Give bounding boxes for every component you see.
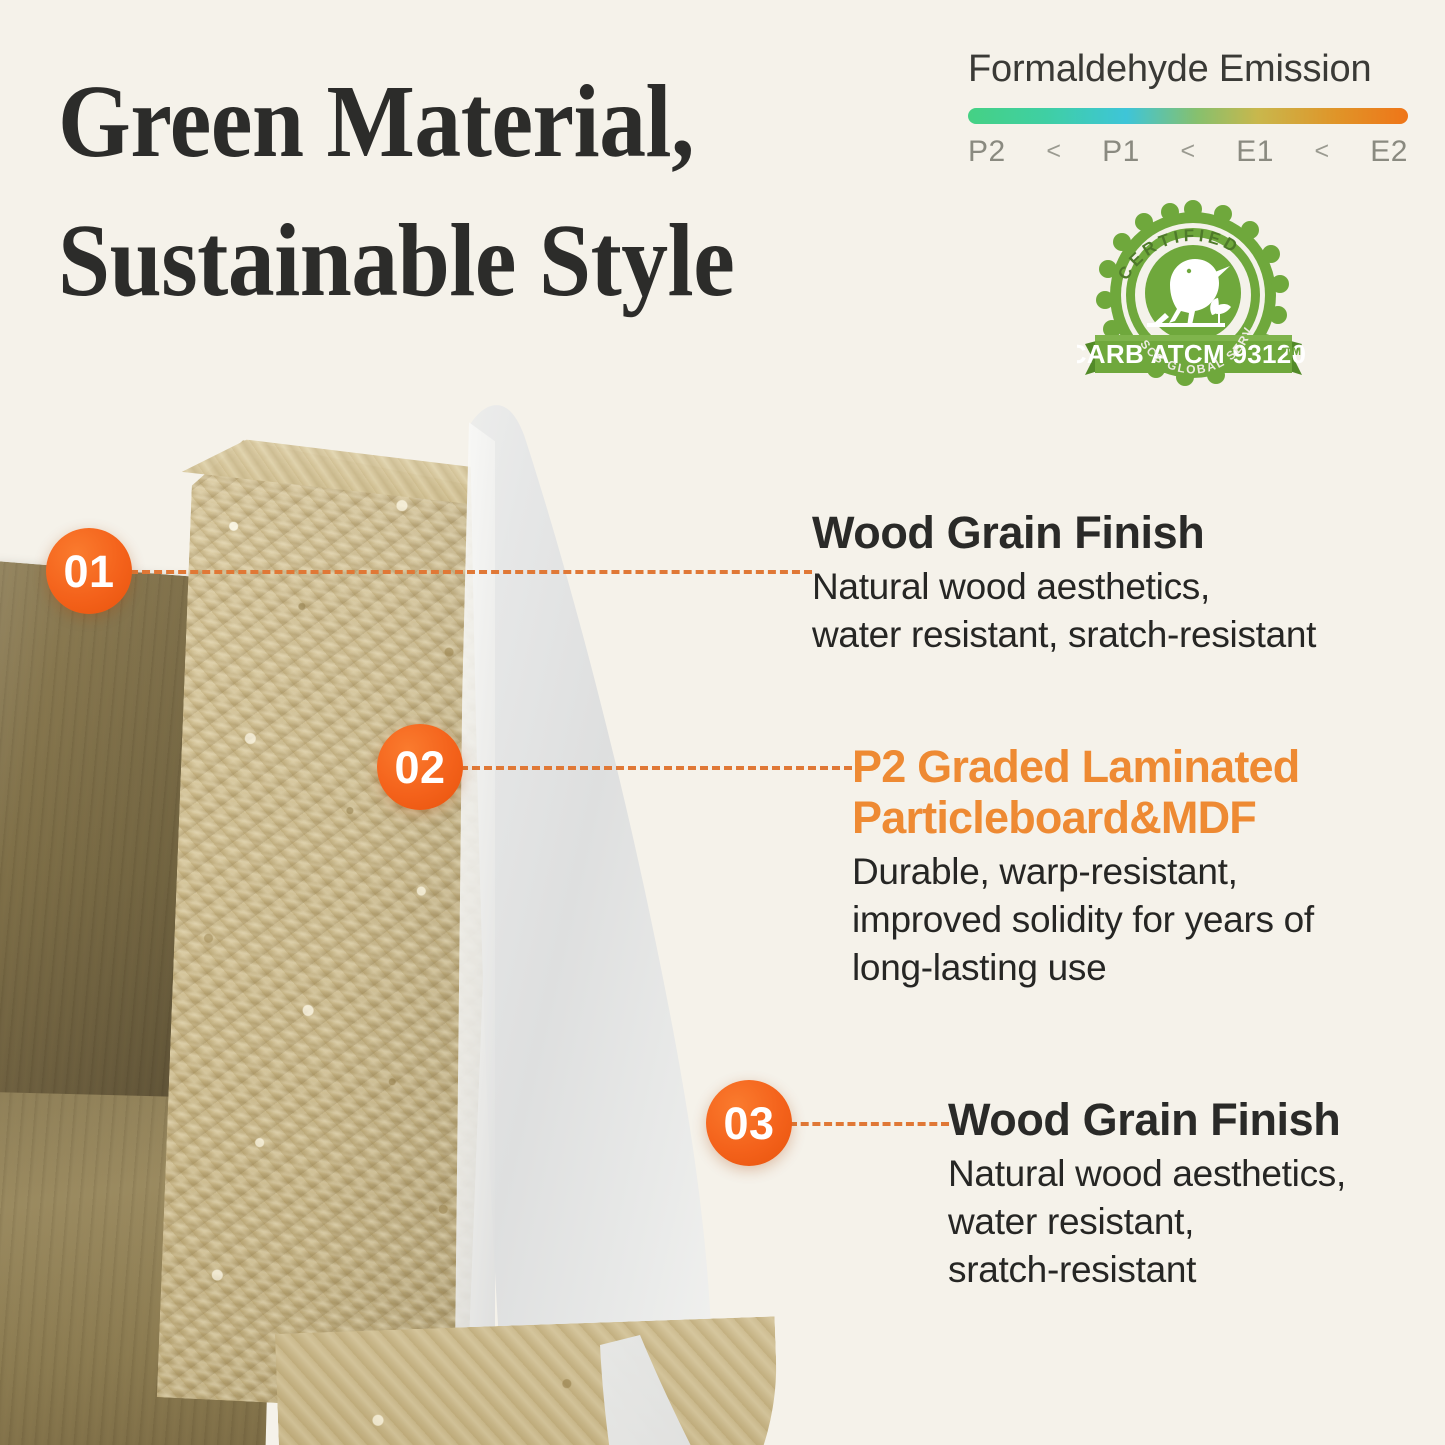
callout-title-01: Wood Grain Finish <box>812 508 1316 559</box>
carb-certification-badge: CERTIFIED CARB ATCM 93120 <box>1077 199 1310 399</box>
callout-text-01: Wood Grain Finish Natural wood aesthetic… <box>812 508 1316 659</box>
callout-body-01-line-1: Natural wood aesthetics, <box>812 563 1316 611</box>
page-title: Green Material, Sustainable Style <box>58 52 958 331</box>
callout-body-03-line-1: Natural wood aesthetics, <box>948 1150 1346 1198</box>
callout-leader-line-03 <box>789 1122 949 1126</box>
page-title-line-2: Sustainable Style <box>58 191 868 330</box>
callout-badge-01[interactable]: 01 <box>46 528 132 614</box>
product-cross-section-image <box>0 395 900 1445</box>
emission-separator-1: < <box>1046 137 1061 166</box>
callout-title-03: Wood Grain Finish <box>948 1095 1346 1146</box>
emission-scale-labels: P2 < P1 < E1 < E2 <box>968 135 1408 169</box>
callout-body-01: Natural wood aesthetics, water resistant… <box>812 563 1316 659</box>
callout-badge-02-number: 02 <box>394 745 445 790</box>
callout-body-03-line-3: sratch-resistant <box>948 1246 1346 1294</box>
callout-leader-line-02 <box>460 766 852 770</box>
callout-body-02-line-2: improved solidity for years of <box>852 896 1314 944</box>
callout-leader-line-01 <box>130 570 812 574</box>
callout-title-02-line-1: P2 Graded Laminated <box>852 742 1314 793</box>
curled-core-section <box>275 1316 785 1445</box>
emission-separator-2: < <box>1180 137 1195 166</box>
callout-badge-01-number: 01 <box>63 549 114 594</box>
emission-label-e2: E2 <box>1370 135 1408 169</box>
emission-separator-3: < <box>1315 137 1330 166</box>
callout-title-02-line-2: Particleboard&MDF <box>852 793 1314 844</box>
callout-body-02-line-1: Durable, warp-resistant, <box>852 848 1314 896</box>
callout-badge-03-number: 03 <box>723 1101 774 1146</box>
emission-label-e1: E1 <box>1236 135 1274 169</box>
infographic-canvas: Green Material, Sustainable Style Formal… <box>0 0 1445 1445</box>
callout-text-03: Wood Grain Finish Natural wood aesthetic… <box>948 1095 1346 1294</box>
callout-text-02: P2 Graded Laminated Particleboard&MDF Du… <box>852 742 1314 992</box>
page-title-line-1: Green Material, <box>58 52 868 191</box>
callout-body-01-line-2: water resistant, sratch-resistant <box>812 611 1316 659</box>
formaldehyde-emission-scale: Formaldehyde Emission P2 < P1 < E1 < E2 <box>968 48 1408 169</box>
emission-scale-title: Formaldehyde Emission <box>968 48 1408 92</box>
emission-label-p1: P1 <box>1102 135 1140 169</box>
callout-body-02-line-3: long-lasting use <box>852 944 1314 992</box>
callout-body-02: Durable, warp-resistant, improved solidi… <box>852 848 1314 992</box>
callout-body-03-line-2: water resistant, <box>948 1198 1346 1246</box>
white-laminate-layer <box>440 395 870 1355</box>
callout-body-03: Natural wood aesthetics, water resistant… <box>948 1150 1346 1294</box>
particleboard-core-layer <box>157 438 503 1412</box>
emission-gradient-bar <box>968 108 1408 124</box>
callout-badge-03[interactable]: 03 <box>706 1080 792 1166</box>
emission-label-p2: P2 <box>968 135 1006 169</box>
callout-badge-02[interactable]: 02 <box>377 724 463 810</box>
badge-trademark: TM <box>1285 346 1301 358</box>
